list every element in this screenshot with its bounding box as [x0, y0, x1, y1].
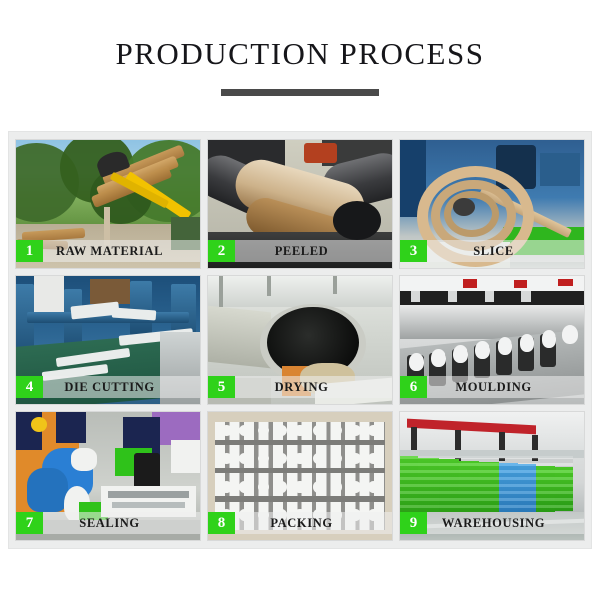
step-number-badge-9: 9: [400, 512, 427, 534]
step-label-strip-9: 9 WAREHOUSING: [400, 512, 584, 534]
step-number-badge-3: 3: [400, 240, 427, 262]
step-number-badge-2: 2: [208, 240, 235, 262]
step-label-3: SLICE: [427, 244, 584, 259]
process-step-card-5[interactable]: 5 DRYING: [207, 275, 393, 405]
step-label-8: PACKING: [235, 516, 392, 531]
process-step-card-3[interactable]: 3 SLICE: [399, 139, 585, 269]
step-label-strip-5: 5 DRYING: [208, 376, 392, 398]
step-label-strip-8: 8 PACKING: [208, 512, 392, 534]
process-step-card-9[interactable]: 9 WAREHOUSING: [399, 411, 585, 541]
process-grid-panel: 1 RAW MATERIAL: [8, 131, 592, 549]
step-label-strip-4: 4 DIE CUTTING: [16, 376, 200, 398]
step-number-badge-4: 4: [16, 376, 43, 398]
step-number-badge-8: 8: [208, 512, 235, 534]
title-underline-rule: [221, 89, 379, 96]
process-step-card-7[interactable]: 7 SEALING: [15, 411, 201, 541]
step-label-7: SEALING: [43, 516, 200, 531]
step-number-badge-6: 6: [400, 376, 427, 398]
step-number-badge-1: 1: [16, 240, 43, 262]
step-label-6: MOULDING: [427, 380, 584, 395]
step-number-badge-5: 5: [208, 376, 235, 398]
process-step-card-2[interactable]: 2 PEELED: [207, 139, 393, 269]
step-label-1: RAW MATERIAL: [43, 244, 200, 259]
step-label-strip-6: 6 MOULDING: [400, 376, 584, 398]
title-block: PRODUCTION PROCESS: [0, 38, 600, 96]
step-label-strip-2: 2 PEELED: [208, 240, 392, 262]
step-label-9: WAREHOUSING: [427, 516, 584, 531]
process-step-card-4[interactable]: 4 DIE CUTTING: [15, 275, 201, 405]
step-number-badge-7: 7: [16, 512, 43, 534]
step-label-2: PEELED: [235, 244, 392, 259]
step-label-strip-3: 3 SLICE: [400, 240, 584, 262]
production-process-infographic: PRODUCTION PROCESS: [0, 0, 600, 600]
step-label-strip-1: 1 RAW MATERIAL: [16, 240, 200, 262]
process-step-card-8[interactable]: 8 PACKING: [207, 411, 393, 541]
step-label-4: DIE CUTTING: [43, 380, 200, 395]
page-title: PRODUCTION PROCESS: [0, 38, 600, 69]
process-grid: 1 RAW MATERIAL: [15, 139, 585, 541]
process-step-card-6[interactable]: 6 MOULDING: [399, 275, 585, 405]
process-step-card-1[interactable]: 1 RAW MATERIAL: [15, 139, 201, 269]
step-label-5: DRYING: [235, 380, 392, 395]
step-label-strip-7: 7 SEALING: [16, 512, 200, 534]
